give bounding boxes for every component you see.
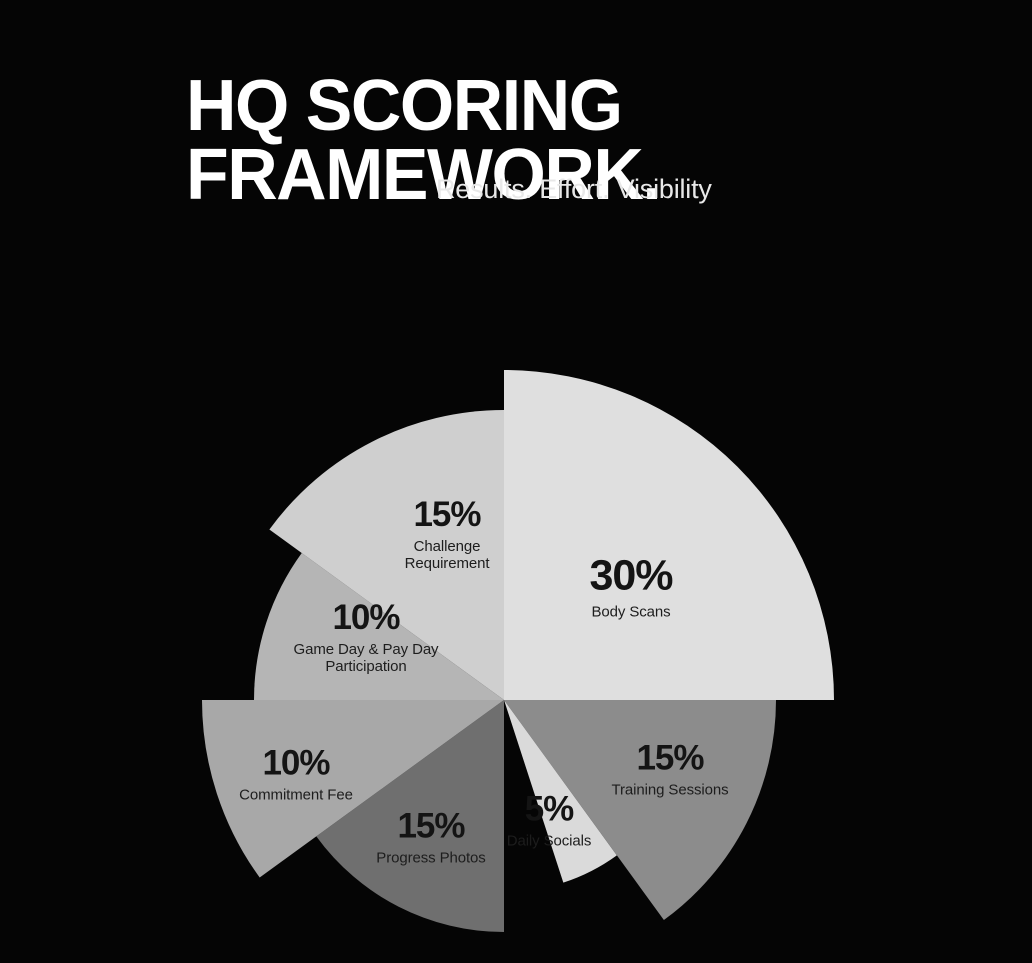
slide-canvas: HQ SCORING FRAMEWORK. Results. Effort. V… — [0, 0, 1032, 963]
pie-chart: 30%Body Scans15%Training Sessions5%Daily… — [0, 0, 1032, 963]
pie-chart-svg — [0, 0, 1032, 963]
pie-slice[interactable] — [504, 370, 834, 700]
